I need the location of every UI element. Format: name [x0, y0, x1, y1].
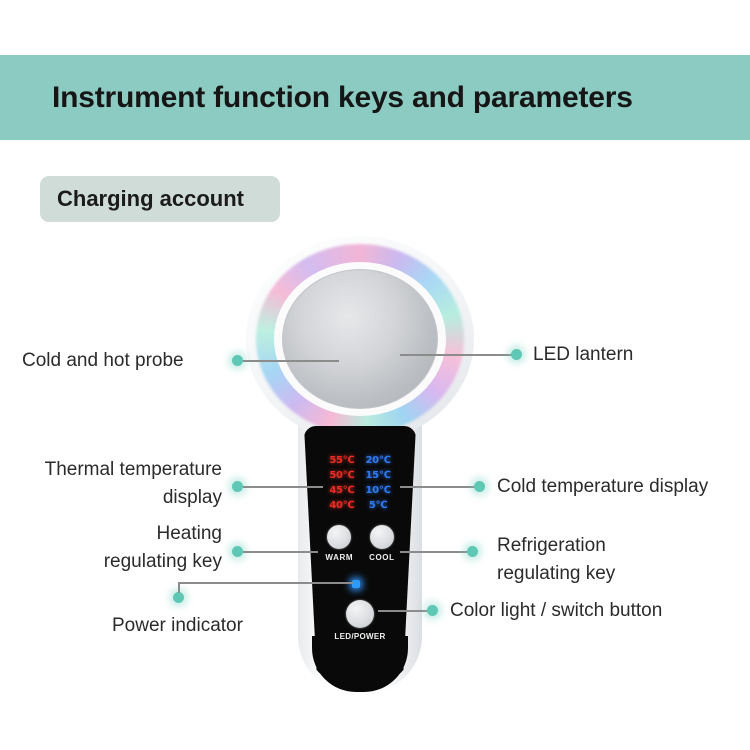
power-indicator-led-icon	[352, 580, 360, 588]
callout-line-power-indicator-v	[178, 583, 180, 593]
section-badge: Charging account	[40, 176, 280, 222]
regulating-button-row: WARM COOL	[306, 525, 414, 562]
cool-button-label: COOL	[369, 553, 395, 562]
callout-label-thermal-temperature-display: Thermal temperature display	[22, 456, 222, 512]
header-banner: Instrument function keys and parameters	[0, 55, 750, 140]
callout-line-thermal-temperature-display	[243, 486, 323, 488]
callout-dot-refrigeration-regulating-key	[467, 546, 478, 557]
section-badge-label: Charging account	[57, 186, 244, 212]
callout-dot-led-lantern	[511, 349, 522, 360]
cold-temp-value: 10℃	[366, 484, 391, 497]
callout-line-cold-hot-probe	[243, 360, 339, 362]
temperature-display: 55℃ 50℃ 45℃ 40℃ 20℃ 15℃ 10℃ 5℃	[310, 454, 410, 512]
warm-button[interactable]: WARM	[325, 525, 353, 562]
led-power-button[interactable]: LED/POWER	[306, 600, 414, 641]
cool-button-circle-icon	[370, 525, 394, 549]
callout-label-cold-hot-probe: Cold and hot probe	[22, 347, 184, 375]
callout-dot-thermal-temperature-display	[232, 481, 243, 492]
callout-dot-cold-hot-probe	[232, 355, 243, 366]
callout-dot-heating-regulating-key	[232, 546, 243, 557]
infographic-page: Instrument function keys and parameters …	[0, 0, 750, 750]
led-power-button-circle-icon	[346, 600, 374, 628]
callout-dot-cold-temperature-display	[474, 481, 485, 492]
cold-temp-value: 15℃	[366, 469, 391, 482]
callout-dot-color-light-switch-button	[427, 605, 438, 616]
callout-line-cold-temperature-display	[400, 486, 475, 488]
led-power-button-label: LED/POWER	[334, 632, 385, 641]
warm-button-label: WARM	[325, 553, 353, 562]
callout-line-color-light-switch-button	[378, 610, 428, 612]
hot-temp-value: 45℃	[329, 484, 354, 497]
hot-temp-value: 55℃	[329, 454, 354, 467]
warm-button-circle-icon	[327, 525, 351, 549]
page-title: Instrument function keys and parameters	[52, 81, 633, 115]
callout-line-led-lantern	[400, 354, 512, 356]
callout-label-refrigeration-regulating-key: Refrigeration regulating key	[497, 532, 615, 588]
callout-label-cold-temperature-display: Cold temperature display	[497, 473, 708, 501]
callout-label-color-light-switch-button: Color light / switch button	[450, 597, 662, 625]
hot-temp-value: 50℃	[329, 469, 354, 482]
callout-line-power-indicator-h	[178, 582, 353, 584]
callout-label-heating-regulating-key: Heating regulating key	[22, 520, 222, 576]
cold-temperature-column: 20℃ 15℃ 10℃ 5℃	[366, 454, 391, 512]
callout-line-heating-regulating-key	[243, 551, 318, 553]
callout-line-refrigeration-regulating-key	[400, 551, 468, 553]
thermal-temperature-column: 55℃ 50℃ 45℃ 40℃	[329, 454, 354, 512]
device-illustration: 55℃ 50℃ 45℃ 40℃ 20℃ 15℃ 10℃ 5℃ WARM COOL	[240, 236, 480, 698]
callout-dot-power-indicator	[173, 592, 184, 603]
callout-label-power-indicator: Power indicator	[112, 612, 243, 640]
cold-hot-probe-disc	[282, 269, 438, 409]
cold-temp-value: 20℃	[366, 454, 391, 467]
hot-temp-value: 40℃	[329, 499, 354, 512]
cool-button[interactable]: COOL	[369, 525, 395, 562]
callout-label-led-lantern: LED lantern	[533, 341, 633, 369]
cold-temp-value: 5℃	[366, 499, 391, 512]
